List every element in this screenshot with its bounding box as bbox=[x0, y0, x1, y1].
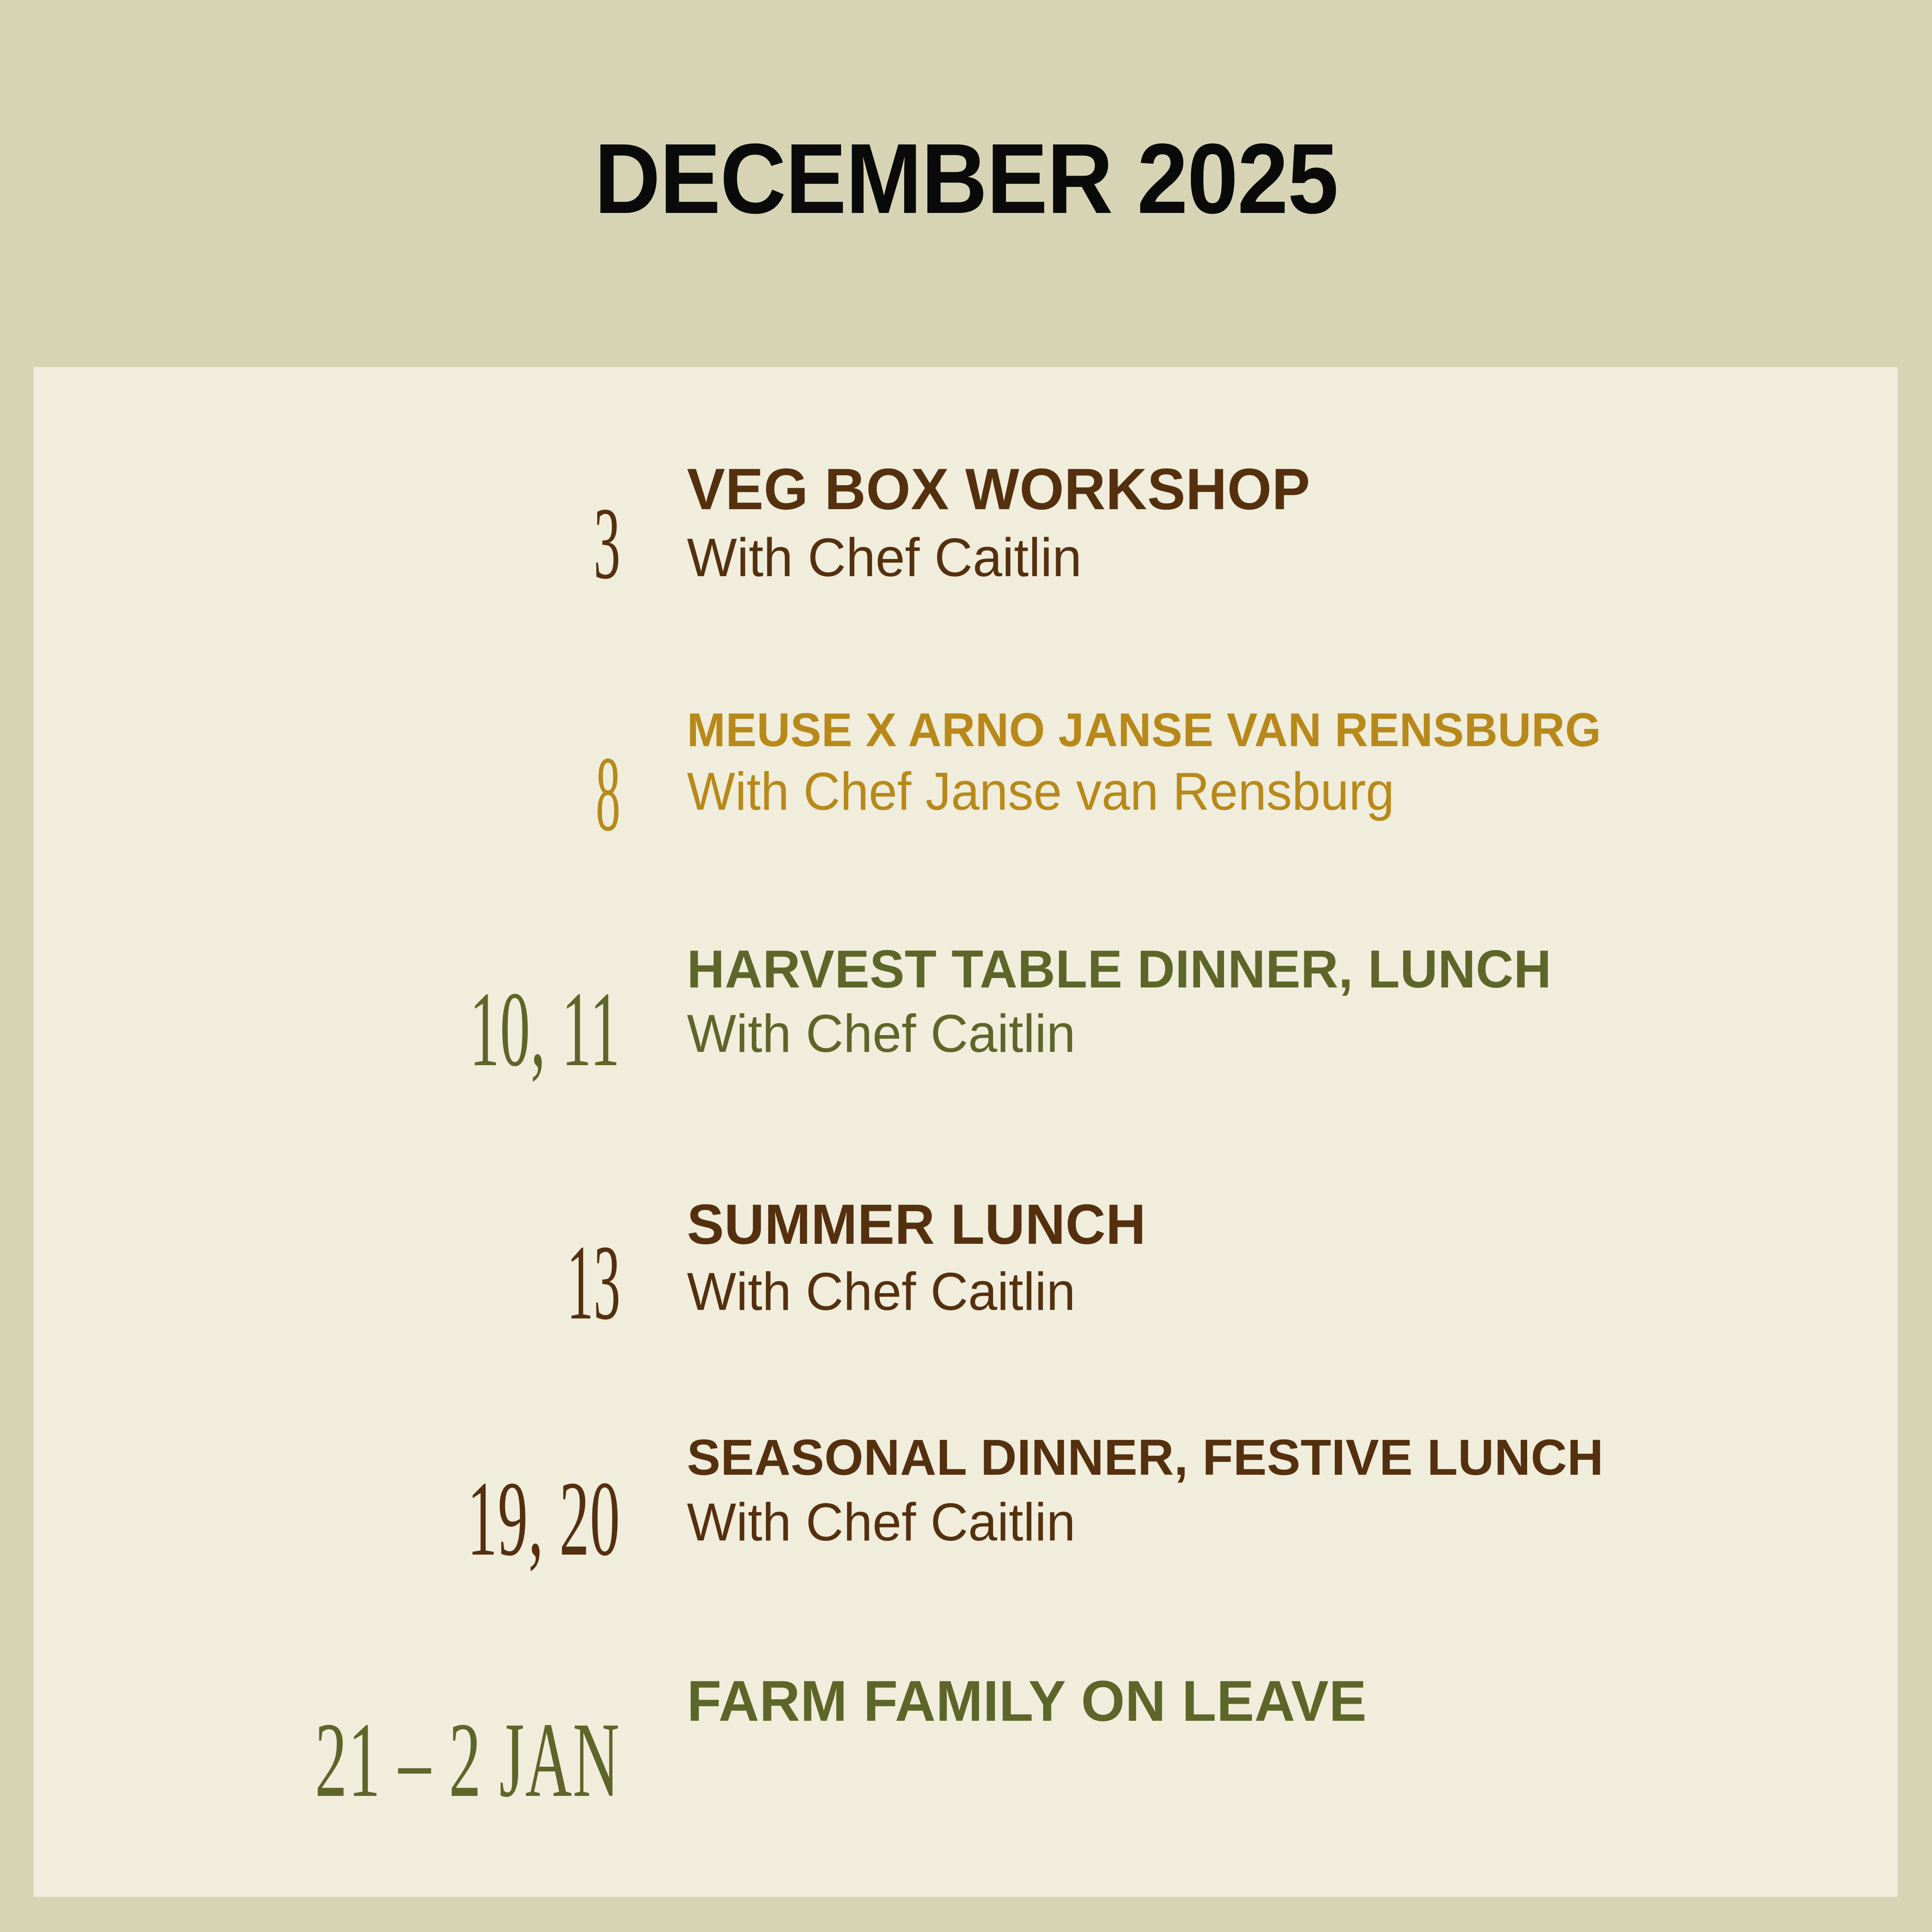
event-date: 13 bbox=[277, 1229, 620, 1337]
event-date: 3 bbox=[263, 492, 620, 595]
event-row[interactable]: 3 VEG BOX WORKSHOP With Chef Caitlin bbox=[33, 459, 1898, 614]
event-title: SEASONAL DINNER, FESTIVE LUNCH bbox=[687, 1432, 1835, 1483]
event-body: SUMMER LUNCH With Chef Caitlin bbox=[687, 1196, 1846, 1320]
event-title: HARVEST TABLE DINNER, LUNCH bbox=[687, 942, 1823, 996]
events-panel: 3 VEG BOX WORKSHOP With Chef Caitlin 8 M… bbox=[33, 367, 1898, 1897]
header-band: DECEMBER 2025 bbox=[0, 0, 1932, 367]
event-row[interactable]: 21 – 2 JAN FARM FAMILY ON LEAVE bbox=[33, 1672, 1898, 1831]
event-date: 10, 11 bbox=[236, 976, 620, 1083]
event-title: SUMMER LUNCH bbox=[687, 1196, 1823, 1254]
event-subtitle: With Chef Caitlin bbox=[687, 1264, 1823, 1320]
event-date: 21 – 2 JAN bbox=[208, 1707, 620, 1814]
event-title: MEUSE X ARNO JANSE VAN RENSBURG bbox=[687, 706, 1823, 754]
event-row[interactable]: 8 MEUSE X ARNO JANSE VAN RENSBURG With C… bbox=[33, 706, 1898, 865]
event-body: MEUSE X ARNO JANSE VAN RENSBURG With Che… bbox=[687, 706, 1846, 820]
event-body: FARM FAMILY ON LEAVE bbox=[687, 1672, 1846, 1731]
event-body: HARVEST TABLE DINNER, LUNCH With Chef Ca… bbox=[687, 942, 1846, 1062]
calendar-poster: DECEMBER 2025 3 VEG BOX WORKSHOP With Ch… bbox=[0, 0, 1932, 1932]
event-subtitle: With Chef Caitlin bbox=[687, 1006, 1823, 1062]
event-row[interactable]: 13 SUMMER LUNCH With Chef Caitlin bbox=[33, 1196, 1898, 1355]
event-title: VEG BOX WORKSHOP bbox=[687, 459, 1823, 519]
page-title: DECEMBER 2025 bbox=[77, 0, 1855, 367]
event-row[interactable]: 10, 11 HARVEST TABLE DINNER, LUNCH With … bbox=[33, 942, 1898, 1101]
event-row[interactable]: 19, 20 SEASONAL DINNER, FESTIVE LUNCH Wi… bbox=[33, 1432, 1898, 1591]
event-title: FARM FAMILY ON LEAVE bbox=[687, 1672, 1823, 1731]
event-body: VEG BOX WORKSHOP With Chef Caitlin bbox=[687, 459, 1846, 586]
event-date: 8 bbox=[304, 741, 620, 848]
event-subtitle: With Chef Caitlin bbox=[687, 529, 1823, 586]
event-subtitle: With Chef Caitlin bbox=[687, 1495, 1823, 1550]
events-list: 3 VEG BOX WORKSHOP With Chef Caitlin 8 M… bbox=[33, 367, 1898, 1897]
event-body: SEASONAL DINNER, FESTIVE LUNCH With Chef… bbox=[687, 1432, 1846, 1551]
event-date: 19, 20 bbox=[236, 1465, 620, 1573]
event-subtitle: With Chef Janse van Rensburg bbox=[687, 764, 1800, 820]
